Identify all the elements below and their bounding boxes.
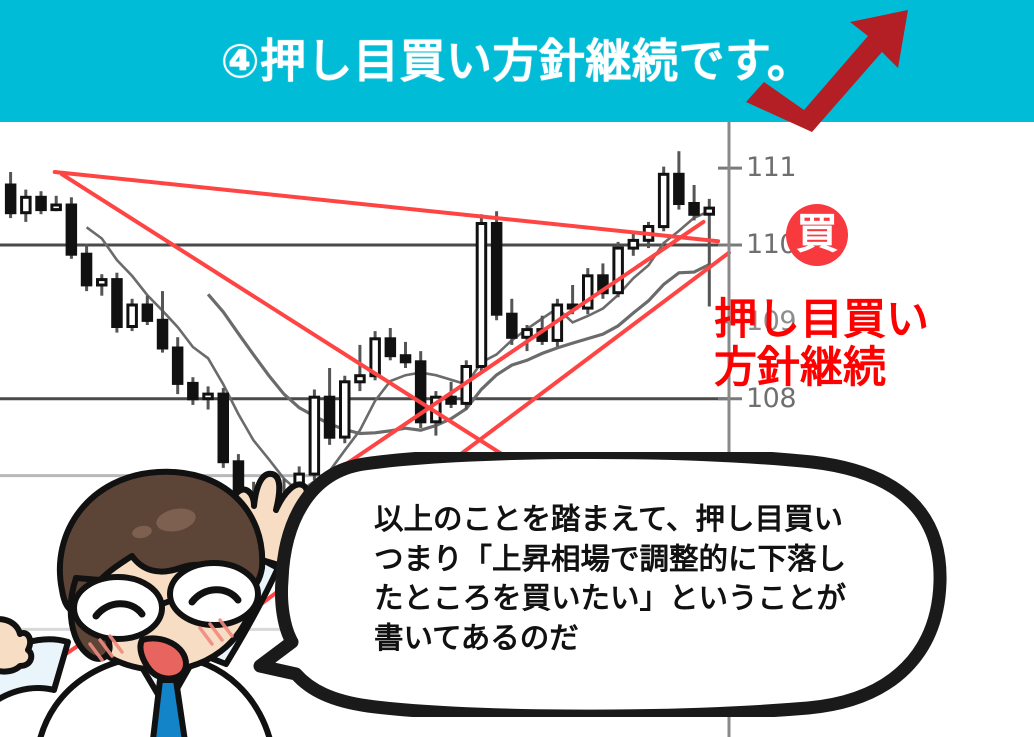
strategy-note: 押し目買い 方針継続 [714,296,1014,392]
upward-trend-arrow-icon [742,6,922,136]
candle-up [705,208,714,214]
candle-down [158,320,167,348]
buy-badge-label: 買 [796,213,838,255]
buy-badge: 買 [786,204,848,266]
candle-down [675,174,684,203]
candle-down [173,348,182,383]
candle-down [67,205,76,254]
candle-up [659,174,668,226]
candle-up [98,280,107,285]
candle-up [52,205,61,210]
candle-down [508,314,516,337]
candle-up [629,240,638,248]
page-title: ④押し目買い方針継続です。 [221,38,814,84]
speech-bubble-text: 以上のことを踏まえて、押し目買い つまり「上昇相場で調整的に下落し たところを買… [374,500,934,658]
slide-root: ④押し目買い方針継続です。 111110109108107106105104 買… [0,0,1034,737]
candle-down [82,254,91,285]
candle-down [690,204,699,215]
candle-down [113,280,122,327]
candle-up [523,330,532,338]
candle-up [341,382,350,437]
candle-down [219,394,228,462]
candle-up [204,394,213,399]
candle-down [447,397,456,403]
candle-up [356,376,365,382]
candle-down [189,383,198,398]
moving-average-14 [208,265,709,434]
candle-down [143,305,152,320]
candle-down [401,356,410,362]
candle-up [477,224,486,367]
candle-up [22,197,31,212]
candle-down [492,224,501,315]
candle-down [386,339,395,356]
axis-label-111: 111 [746,154,796,181]
speech-bubble: 以上のことを踏まえて、押し目買い つまり「上昇相場で調整的に下落し たところを買… [252,452,952,717]
candle-down [6,185,15,213]
candle-down [325,397,334,437]
candle-up [128,305,136,327]
candle-down [37,197,46,209]
candle-up [614,248,623,293]
